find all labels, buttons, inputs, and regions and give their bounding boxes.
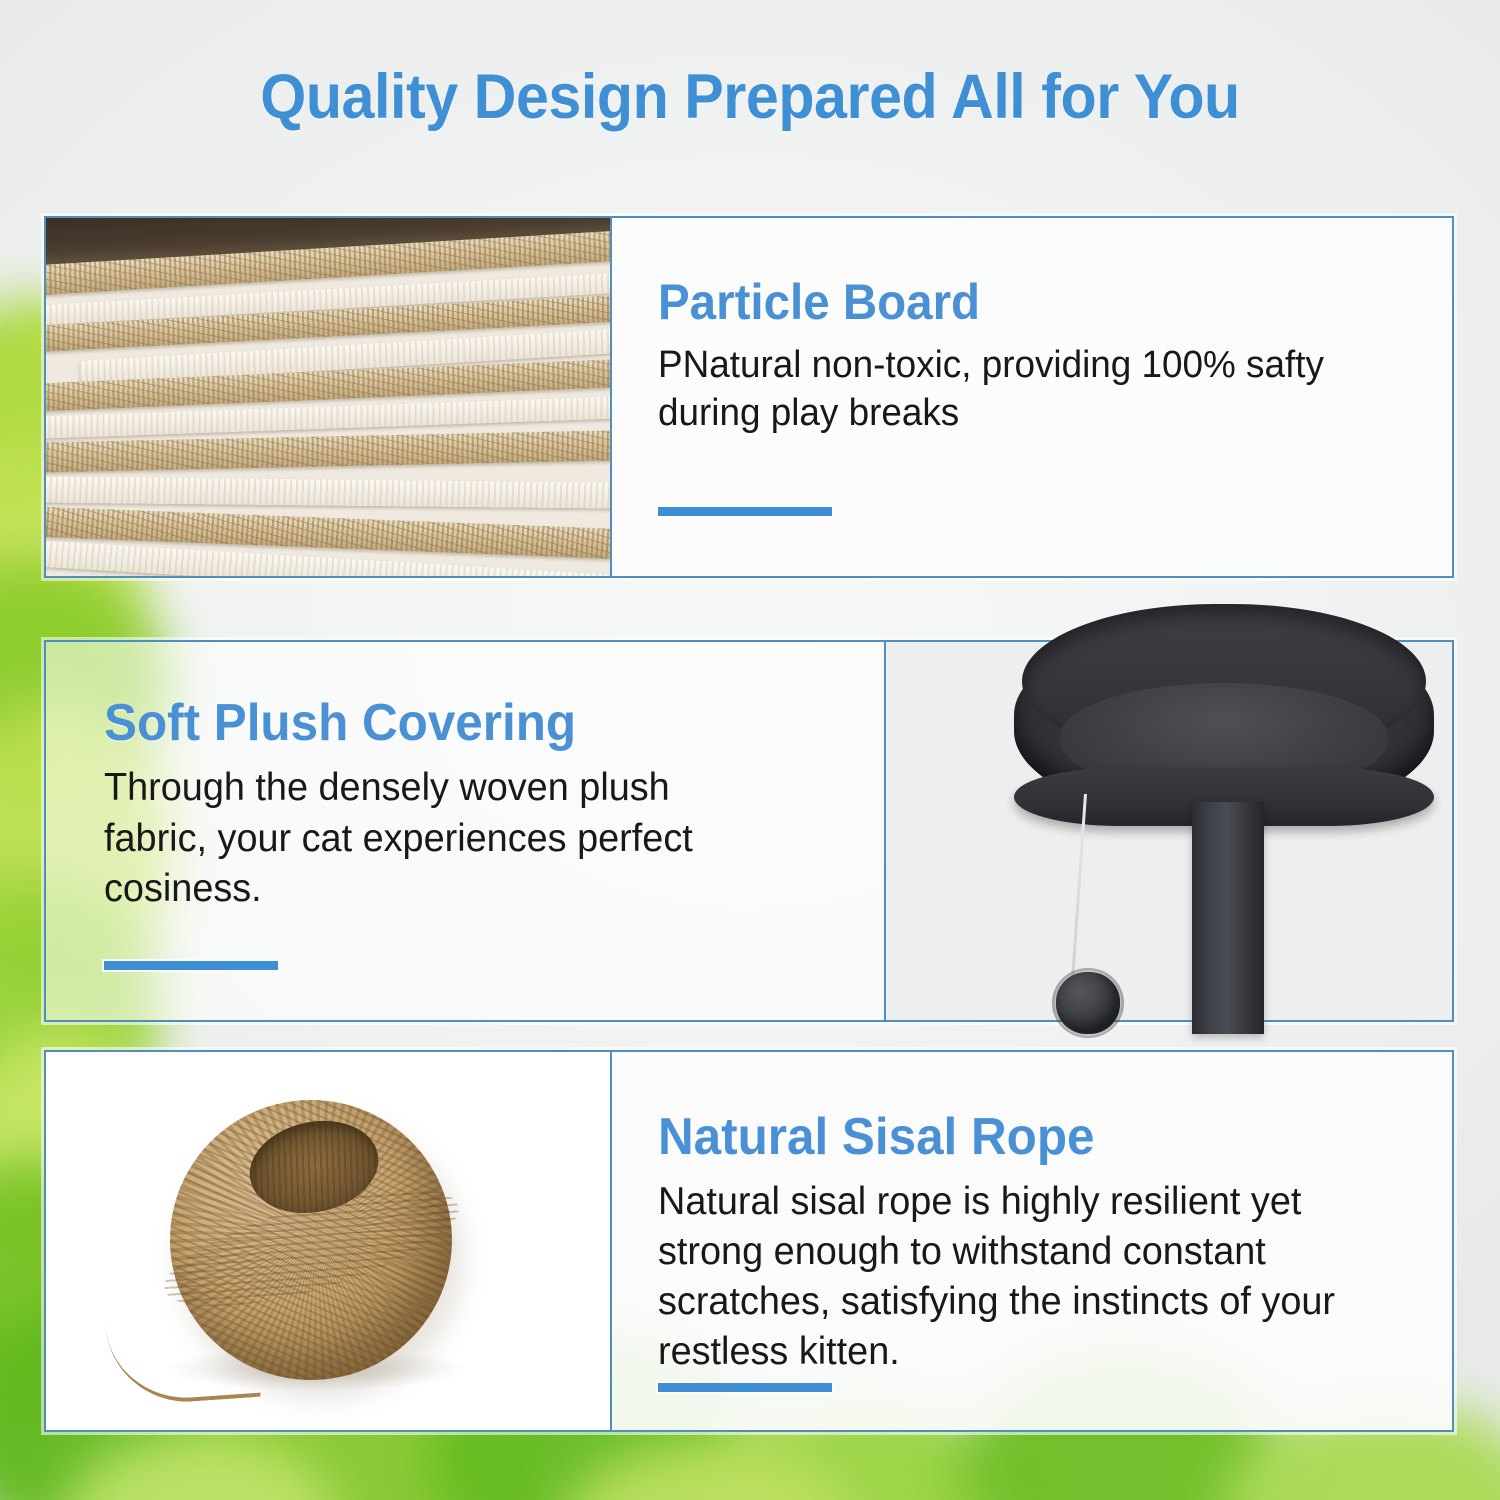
cat-tree-perch-image <box>886 642 1452 1020</box>
soft-plush-text: Soft Plush Covering Through the densely … <box>46 642 886 1020</box>
feature-heading-natural-sisal-rope: Natural Sisal Rope <box>658 1110 1359 1165</box>
accent-underline <box>104 961 278 970</box>
sisal-rope-text: Natural Sisal Rope Natural sisal rope is… <box>610 1052 1452 1430</box>
sisal-rope-image <box>46 1052 610 1430</box>
board-plank <box>46 476 610 509</box>
feature-panel-particle-board: Particle Board PNatural non-toxic, provi… <box>44 216 1454 578</box>
feature-body-soft-plush-covering: Through the densely woven plush fabric, … <box>104 763 783 915</box>
feature-heading-particle-board: Particle Board <box>658 276 1359 329</box>
foliage-leaf <box>60 1430 340 1500</box>
feature-body-natural-sisal-rope: Natural sisal rope is highly resilient y… <box>658 1177 1374 1377</box>
particle-board-illustration <box>46 218 610 576</box>
particle-board-text: Particle Board PNatural non-toxic, provi… <box>610 218 1452 576</box>
twine-tail <box>105 1315 260 1407</box>
plush-perch <box>1014 624 1434 822</box>
pom-pom-ball <box>1056 972 1120 1034</box>
page-title: Quality Design Prepared All for You <box>45 64 1455 130</box>
foliage-leaf <box>560 1440 860 1500</box>
plush-post <box>1192 802 1264 1034</box>
cat-tree-illustration <box>886 642 1452 1020</box>
feature-panel-natural-sisal-rope: Natural Sisal Rope Natural sisal rope is… <box>44 1050 1454 1432</box>
feature-body-particle-board: PNatural non-toxic, providing 100% safty… <box>658 341 1374 438</box>
feature-heading-soft-plush-covering: Soft Plush Covering <box>104 696 807 751</box>
product-feature-poster: Quality Design Prepared All for You Part… <box>0 0 1500 1500</box>
accent-underline <box>658 1383 832 1392</box>
sisal-ball-illustration <box>46 1052 610 1430</box>
feature-panel-soft-plush-covering: Soft Plush Covering Through the densely … <box>44 640 1454 1022</box>
particle-board-image <box>46 218 610 576</box>
accent-underline <box>658 507 832 516</box>
